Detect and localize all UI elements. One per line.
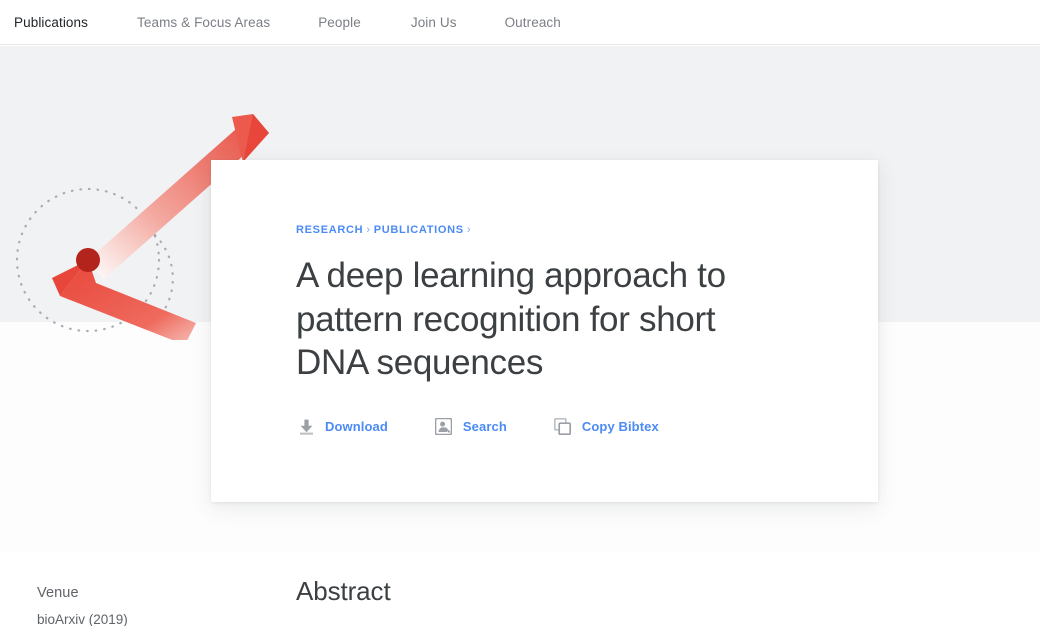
breadcrumb-item-publications[interactable]: PUBLICATIONS xyxy=(374,224,464,236)
copy-icon xyxy=(553,417,573,437)
nav-item-join-us[interactable]: Join Us xyxy=(411,0,457,45)
copy-bibtex-button[interactable]: Copy Bibtex xyxy=(553,417,659,437)
nav-item-publications[interactable]: Publications xyxy=(14,0,88,45)
breadcrumb-separator-trailing: › xyxy=(464,224,474,236)
nav-item-people[interactable]: People xyxy=(318,0,361,45)
nav-item-outreach[interactable]: Outreach xyxy=(505,0,561,45)
top-navigation-bar: Publications Teams & Focus Areas People … xyxy=(0,0,1040,45)
download-label: Download xyxy=(325,419,388,434)
publication-card-content: RESEARCH›PUBLICATIONS› A deep learning a… xyxy=(296,224,838,437)
search-button[interactable]: Search xyxy=(434,417,507,437)
publication-details-section: Venue bioArxiv (2019) Abstract xyxy=(0,552,1040,626)
publication-detail-page: Publications Teams & Focus Areas People … xyxy=(0,0,1040,626)
nav-item-teams-focus-areas[interactable]: Teams & Focus Areas xyxy=(137,0,270,45)
venue-value: bioArxiv (2019) xyxy=(37,612,128,626)
breadcrumb: RESEARCH›PUBLICATIONS› xyxy=(296,224,838,236)
abstract-heading: Abstract xyxy=(296,576,391,607)
breadcrumb-separator: › xyxy=(363,224,373,236)
copy-bibtex-label: Copy Bibtex xyxy=(582,419,659,434)
search-label: Search xyxy=(463,419,507,434)
scholar-search-icon xyxy=(434,417,454,437)
publication-card: RESEARCH›PUBLICATIONS› A deep learning a… xyxy=(211,160,878,502)
publication-actions: Download Search xyxy=(296,417,838,437)
download-icon xyxy=(296,417,316,437)
breadcrumb-item-research[interactable]: RESEARCH xyxy=(296,224,363,236)
venue-label: Venue xyxy=(37,585,79,601)
download-button[interactable]: Download xyxy=(296,417,388,437)
page-title: A deep learning approach to pattern reco… xyxy=(296,254,756,385)
